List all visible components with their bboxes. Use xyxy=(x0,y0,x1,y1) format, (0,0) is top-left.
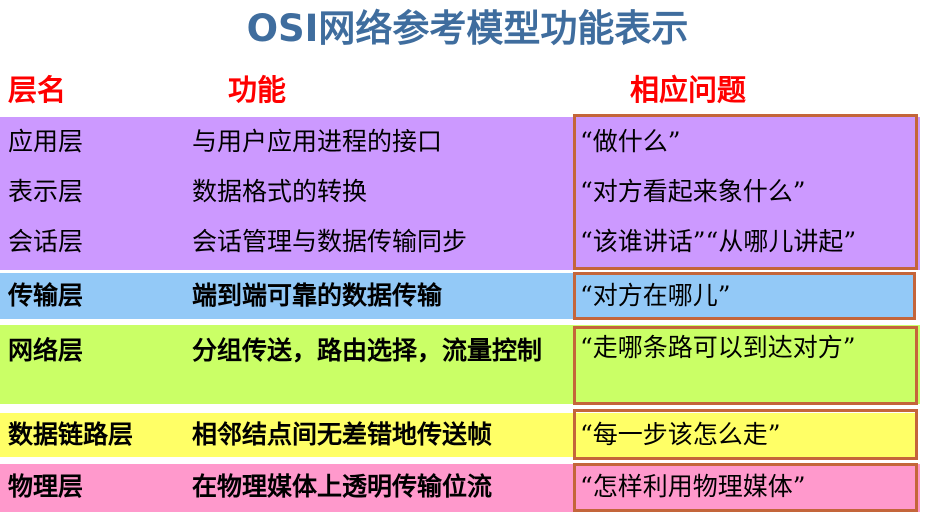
column-header-layer-name: 层名 xyxy=(8,73,66,107)
layer-issue-physical: “怎样利用物理媒体” xyxy=(580,472,806,502)
layer-issue-network: “走哪条路可以到达对方” xyxy=(580,333,856,363)
layer-name-application: 应用层 xyxy=(8,127,83,157)
layer-issue-transport: “对方在哪儿” xyxy=(580,281,731,311)
layer-issue-application: “做什么” xyxy=(580,127,681,157)
layer-issue-presentation: “对方看起来象什么” xyxy=(580,177,806,207)
page-title: OSI网络参考模型功能表示 xyxy=(0,6,935,52)
layer-name-physical: 物理层 xyxy=(8,472,83,502)
layer-issue-session: “该谁讲话”“从哪儿讲起” xyxy=(580,227,856,257)
layer-function-network: 分组传送，路由选择，流量控制 xyxy=(192,333,572,369)
layer-function-session: 会话管理与数据传输同步 xyxy=(192,227,467,257)
column-header-function: 功能 xyxy=(228,73,286,107)
layer-function-datalink: 相邻结点间无差错地传送帧 xyxy=(192,420,492,450)
layer-name-session: 会话层 xyxy=(8,227,83,257)
layer-function-physical: 在物理媒体上透明传输位流 xyxy=(192,472,492,502)
layer-function-application: 与用户应用进程的接口 xyxy=(192,127,442,157)
layer-function-transport: 端到端可靠的数据传输 xyxy=(192,281,442,311)
layer-function-presentation: 数据格式的转换 xyxy=(192,177,367,207)
column-header-issue: 相应问题 xyxy=(630,73,746,107)
layer-name-transport: 传输层 xyxy=(8,281,83,311)
layer-name-datalink: 数据链路层 xyxy=(8,420,133,450)
layer-issue-datalink: “每一步该怎么走” xyxy=(580,420,781,450)
layer-name-network: 网络层 xyxy=(8,336,83,366)
layer-name-presentation: 表示层 xyxy=(8,177,83,207)
